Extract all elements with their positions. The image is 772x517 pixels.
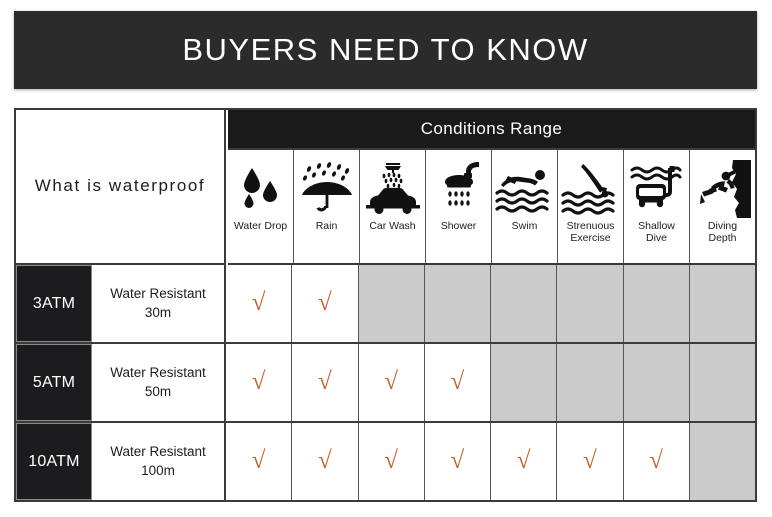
condition-column-header: Swim: [492, 150, 558, 263]
check-icon: √: [318, 290, 332, 315]
condition-column-header: Shallow Dive: [624, 150, 690, 263]
water-drop-icon: [235, 158, 287, 220]
rating-description-text: Water Resistant 100m: [106, 443, 210, 479]
rating-description-text: Water Resistant 30m: [106, 285, 210, 321]
support-cell-unavailable: [557, 265, 623, 342]
support-cell-unavailable: [690, 344, 755, 421]
condition-column-header: Diving Depth: [690, 150, 755, 263]
check-icon: √: [252, 369, 266, 394]
table-left-heading-text: What is waterproof: [35, 173, 206, 199]
table-body: 3ATMWater Resistant 30m√√5ATMWater Resis…: [16, 265, 755, 500]
check-icon: √: [451, 369, 465, 394]
support-cell-unavailable: [491, 344, 557, 421]
check-icon: √: [517, 448, 531, 473]
table-row: 5ATMWater Resistant 50m√√√√: [16, 344, 755, 423]
condition-column-header: Car Wash: [360, 150, 426, 263]
conditions-range-header: Conditions Range: [228, 110, 755, 150]
umbrella-rain-icon: [298, 158, 356, 220]
check-icon: √: [318, 369, 332, 394]
support-cell-unavailable: [491, 265, 557, 342]
swimmer-icon: [495, 158, 555, 220]
table-row: 10ATMWater Resistant 100m√√√√√√√: [16, 423, 755, 500]
infographic-page: BUYERS NEED TO KNOW What is waterproof C…: [0, 0, 772, 517]
condition-column-label: Shallow Dive: [636, 220, 677, 245]
support-cells: √√√√√√√: [226, 423, 755, 500]
car-wash-icon: [364, 158, 422, 220]
support-cell-checked: √: [624, 423, 690, 500]
support-cell-checked: √: [359, 423, 425, 500]
condition-column-label: Water Drop: [232, 220, 289, 232]
support-cell-unavailable: [624, 344, 690, 421]
page-title: BUYERS NEED TO KNOW: [182, 32, 588, 68]
support-cell-checked: √: [292, 344, 358, 421]
condition-column-header: Water Drop: [228, 150, 294, 263]
check-icon: √: [649, 448, 663, 473]
condition-column-label: Strenuous Exercise: [565, 220, 617, 245]
check-icon: √: [384, 369, 398, 394]
support-cell-checked: √: [425, 344, 491, 421]
support-cell-checked: √: [491, 423, 557, 500]
support-cell-checked: √: [292, 265, 358, 342]
snorkel-mask-icon: [628, 158, 686, 220]
conditions-range-label: Conditions Range: [421, 119, 563, 139]
condition-column-label: Swim: [510, 220, 540, 232]
rating-badge: 10ATM: [16, 423, 92, 500]
rating-description-text: Water Resistant 50m: [106, 364, 210, 400]
support-cells: √√√√: [226, 344, 755, 421]
support-cell-checked: √: [226, 423, 292, 500]
condition-column-header: Shower: [426, 150, 492, 263]
scuba-diver-cliff-icon: [695, 158, 751, 220]
support-cell-unavailable: [359, 265, 425, 342]
rating-badge-label: 10ATM: [28, 453, 79, 471]
support-cell-unavailable: [690, 265, 755, 342]
support-cell-checked: √: [557, 423, 623, 500]
support-cell-unavailable: [690, 423, 755, 500]
check-icon: √: [252, 290, 266, 315]
condition-column-label: Rain: [314, 220, 340, 232]
rating-badge: 3ATM: [16, 265, 92, 342]
support-cells: √√: [226, 265, 755, 342]
table-left-heading-cell: What is waterproof: [16, 110, 226, 265]
condition-column-label: Car Wash: [367, 220, 417, 232]
page-banner: BUYERS NEED TO KNOW: [14, 11, 757, 89]
rating-description-cell: Water Resistant 50m: [92, 344, 226, 421]
diving-swimmer-icon: [561, 158, 621, 220]
rating-description-cell: Water Resistant 30m: [92, 265, 226, 342]
rating-badge: 5ATM: [16, 344, 92, 421]
support-cell-unavailable: [425, 265, 491, 342]
condition-columns-header: Water Drop Rain: [228, 150, 755, 265]
check-icon: √: [583, 448, 597, 473]
shower-head-icon: [431, 158, 487, 220]
condition-column-label: Shower: [439, 220, 479, 232]
support-cell-checked: √: [425, 423, 491, 500]
rating-badge-label: 3ATM: [33, 295, 75, 313]
support-cell-unavailable: [557, 344, 623, 421]
support-cell-checked: √: [226, 344, 292, 421]
condition-column-header: Rain: [294, 150, 360, 263]
check-icon: √: [252, 448, 266, 473]
support-cell-checked: √: [292, 423, 358, 500]
check-icon: √: [384, 448, 398, 473]
table-row: 3ATMWater Resistant 30m√√: [16, 265, 755, 344]
support-cell-checked: √: [359, 344, 425, 421]
rating-description-cell: Water Resistant 100m: [92, 423, 226, 500]
check-icon: √: [318, 448, 332, 473]
waterproof-comparison-table: What is waterproof Conditions Range Wate…: [14, 108, 757, 502]
condition-column-header: Strenuous Exercise: [558, 150, 624, 263]
support-cell-unavailable: [624, 265, 690, 342]
rating-badge-label: 5ATM: [33, 374, 75, 392]
condition-column-label: Diving Depth: [706, 220, 739, 245]
check-icon: √: [451, 448, 465, 473]
support-cell-checked: √: [226, 265, 292, 342]
